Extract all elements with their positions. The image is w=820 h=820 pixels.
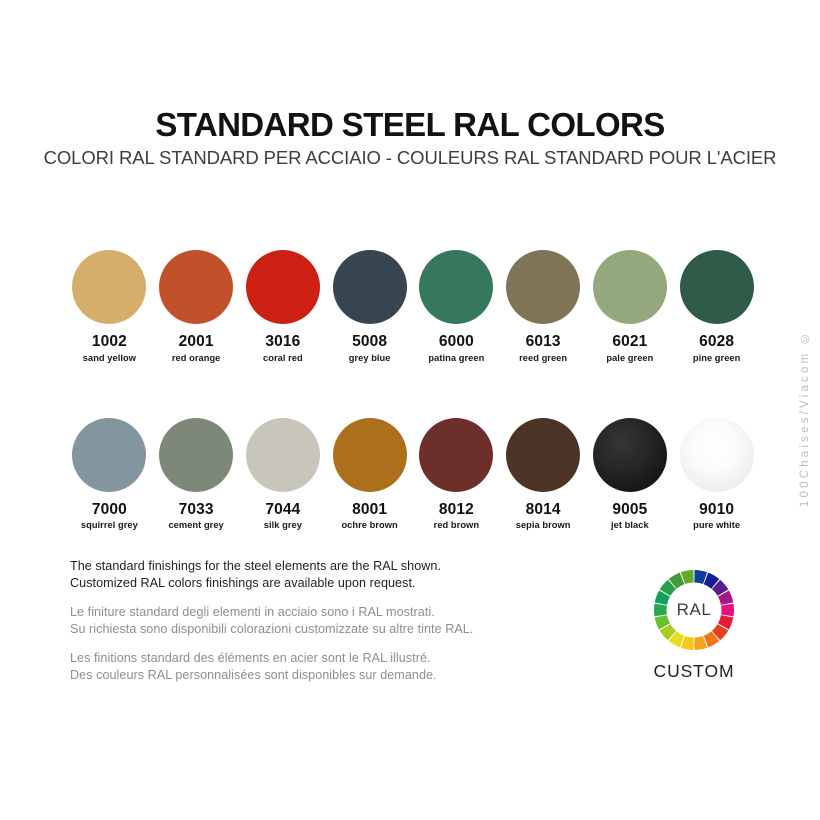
color-name: ochre brown [341,521,397,530]
page-subtitle: COLORI RAL STANDARD PER ACCIAIO - COULEU… [0,148,820,168]
color-swatch[interactable]: 8012 red brown [413,418,500,531]
note-line: Customized RAL colors finishings are ava… [70,575,570,592]
color-disc [593,418,667,492]
color-code: 6028 [699,334,734,350]
swatch-row-2: 7000 squirrel grey 7033 cement grey 7044… [66,418,760,531]
color-disc [333,250,407,324]
color-code: 8001 [352,502,387,518]
color-swatch[interactable]: 2001 red orange [153,250,240,363]
color-code: 6021 [612,334,647,350]
color-name: silk grey [264,521,302,530]
color-disc [72,418,146,492]
color-swatch[interactable]: 6028 pine green [673,250,760,363]
color-swatch[interactable]: 5008 grey blue [326,250,413,363]
color-code: 7000 [92,502,127,518]
color-swatch[interactable]: 7044 silk grey [240,418,327,531]
color-disc [246,250,320,324]
color-name: squirrel grey [81,521,138,530]
color-swatch-grid: 1002 sand yellow 2001 red orange 3016 co… [66,250,760,531]
page-header: STANDARD STEEL RAL COLORS COLORI RAL STA… [0,108,820,169]
color-swatch[interactable]: 8001 ochre brown [326,418,413,531]
color-disc [680,418,754,492]
color-disc [680,250,754,324]
color-disc [506,250,580,324]
color-name: red brown [434,521,479,530]
color-name: pale green [606,354,653,363]
color-code: 7044 [265,502,300,518]
color-chart-page: STANDARD STEEL RAL COLORS COLORI RAL STA… [0,0,820,820]
notes-block: The standard finishings for the steel el… [70,558,570,683]
color-disc [593,250,667,324]
color-name: pure white [693,521,740,530]
color-name: pine green [693,354,741,363]
color-name: patina green [428,354,484,363]
color-code: 8012 [439,502,474,518]
color-name: sepia brown [516,521,571,530]
color-code: 1002 [92,334,127,350]
note-line: Des couleurs RAL personnalisées sont dis… [70,667,570,684]
color-name: cement grey [168,521,223,530]
note-english: The standard finishings for the steel el… [70,558,570,591]
color-swatch[interactable]: 6000 patina green [413,250,500,363]
color-code: 6013 [526,334,561,350]
note-line: Su richiesta sono disponibili colorazion… [70,621,570,638]
watermark: 100Chaises/Viacom © [794,268,816,568]
note-french: Les finitions standard des éléments en a… [70,650,570,683]
color-name: coral red [263,354,303,363]
color-code: 8014 [526,502,561,518]
color-code: 3016 [265,334,300,350]
color-disc [72,250,146,324]
color-swatch[interactable]: 7000 squirrel grey [66,418,153,531]
note-line: Les finitions standard des éléments en a… [70,650,570,667]
swatch-row-1: 1002 sand yellow 2001 red orange 3016 co… [66,250,760,363]
color-disc [506,418,580,492]
color-name: sand yellow [83,354,136,363]
ral-wordmark: RAL [652,600,736,620]
color-code: 9005 [612,502,647,518]
color-swatch[interactable]: 6013 reed green [500,250,587,363]
ral-color-wheel: RAL [652,568,736,652]
color-swatch[interactable]: 7033 cement grey [153,418,240,531]
color-disc [333,418,407,492]
color-code: 6000 [439,334,474,350]
color-disc [159,418,233,492]
color-disc [246,418,320,492]
color-name: reed green [519,354,567,363]
color-code: 7033 [179,502,214,518]
watermark-text: 100Chaises/Viacom © [799,329,811,507]
color-disc [419,250,493,324]
note-line: The standard finishings for the steel el… [70,558,570,575]
color-code: 5008 [352,334,387,350]
color-swatch[interactable]: 3016 coral red [240,250,327,363]
page-title: STANDARD STEEL RAL COLORS [0,108,820,142]
color-swatch[interactable]: 1002 sand yellow [66,250,153,363]
color-swatch[interactable]: 6021 pale green [587,250,674,363]
color-name: grey blue [349,354,391,363]
note-italian: Le finiture standard degli elementi in a… [70,604,570,637]
color-disc [419,418,493,492]
custom-label: CUSTOM [652,661,736,682]
color-code: 9010 [699,502,734,518]
color-swatch[interactable]: 8014 sepia brown [500,418,587,531]
color-code: 2001 [179,334,214,350]
color-name: red orange [172,354,221,363]
color-swatch[interactable]: 9010 pure white [673,418,760,531]
color-disc [159,250,233,324]
color-swatch[interactable]: 9005 jet black [587,418,674,531]
note-line: Le finiture standard degli elementi in a… [70,604,570,621]
color-name: jet black [611,521,649,530]
ral-custom-logo[interactable]: RAL CUSTOM [652,568,736,682]
